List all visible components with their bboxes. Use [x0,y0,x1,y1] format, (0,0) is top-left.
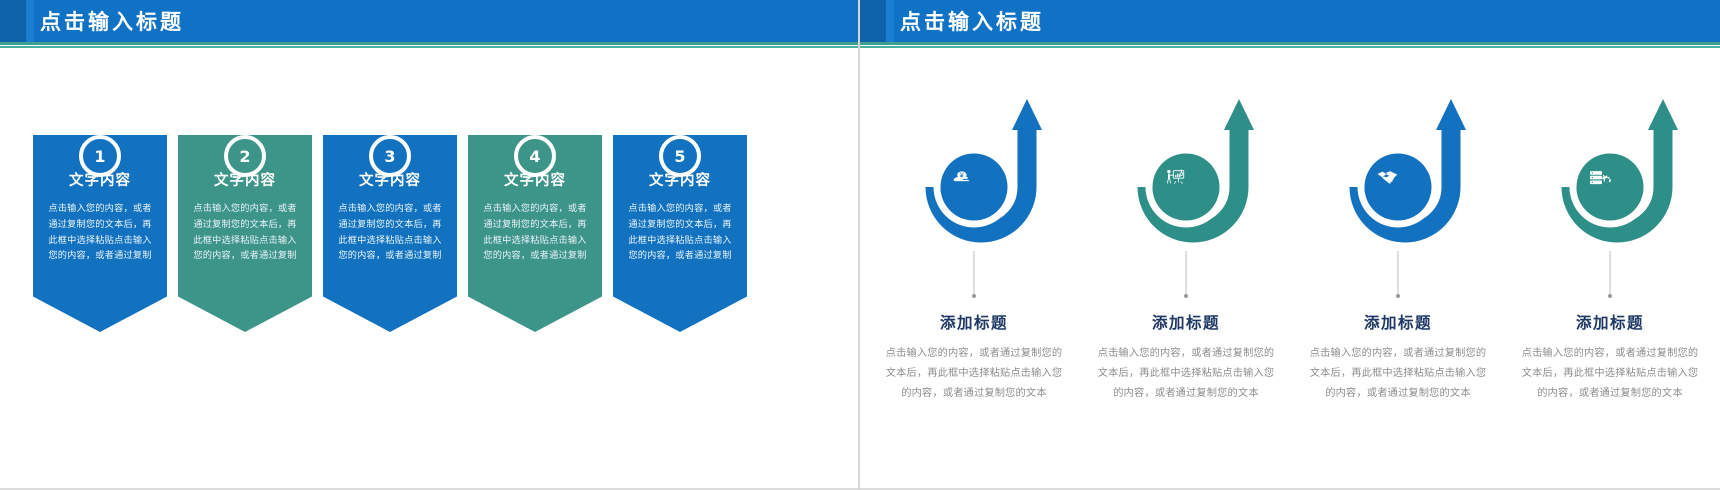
slide-left-header: 点击输入标题 [0,0,858,42]
slide-left: 点击输入标题 文字内容点击输入您的内容，或者通过复制您的文本后，再此框中选择粘贴… [0,0,858,490]
banner-body-text: 点击输入您的内容，或者通过复制您的文本后，再此框中选择粘贴点击输入您的内容，或者… [479,201,591,264]
banner-item-5[interactable]: 文字内容点击输入您的内容，或者通过复制您的文本后，再此框中选择粘贴点击输入您的内… [613,135,747,332]
slide-right-title: 点击输入标题 [900,0,1044,42]
arrow-circle-svg [1298,83,1498,258]
banner-item-1[interactable]: 文字内容点击输入您的内容，或者通过复制您的文本后，再此框中选择粘贴点击输入您的内… [33,135,167,332]
banner-item-3[interactable]: 文字内容点击输入您的内容，或者通过复制您的文本后，再此框中选择粘贴点击输入您的内… [323,135,457,332]
number-label: 2 [239,147,250,166]
arrow-item-2[interactable]: 添加标题点击输入您的内容，或者通过复制您的文本后，再此框中选择粘贴点击输入您的内… [1086,83,1286,404]
connector-dot [1608,294,1612,298]
arrow-item-body: 点击输入您的内容，或者通过复制您的文本后，再此框中选择粘贴点击输入您的内容，或者… [1086,344,1286,404]
slide-deck: 点击输入标题 文字内容点击输入您的内容，或者通过复制您的文本后，再此框中选择粘贴… [0,0,1720,490]
header-accent-bar [860,0,886,42]
number-circle-2[interactable]: 2 [224,135,266,177]
number-label: 4 [529,147,540,166]
arrow-item-group: 添加标题点击输入您的内容，或者通过复制您的文本后，再此框中选择粘贴点击输入您的内… [860,48,1720,478]
slide-right-header: 点击输入标题 [860,0,1720,42]
connector-line [974,251,975,296]
connector-dot [1396,294,1400,298]
banner-body-text: 点击输入您的内容，或者通过复制您的文本后，再此框中选择粘贴点击输入您的内容，或者… [334,201,446,264]
banner-group: 文字内容点击输入您的内容，或者通过复制您的文本后，再此框中选择粘贴点击输入您的内… [0,48,858,468]
arrow-graphic [874,83,1074,253]
arrow-circle-svg [1510,83,1710,258]
arrow-item-3[interactable]: 添加标题点击输入您的内容，或者通过复制您的文本后，再此框中选择粘贴点击输入您的内… [1298,83,1498,404]
connector-line [1186,251,1187,296]
arrow-item-title: 添加标题 [1086,311,1286,333]
connector-line [1398,251,1399,296]
header-accent-bar-secondary [886,0,894,42]
arrow-item-body: 点击输入您的内容，或者通过复制您的文本后，再此框中选择粘贴点击输入您的内容，或者… [874,344,1074,404]
number-circle-3[interactable]: 3 [369,135,411,177]
arrow-item-4[interactable]: 添加标题点击输入您的内容，或者通过复制您的文本后，再此框中选择粘贴点击输入您的内… [1510,83,1710,404]
connector-line [1610,251,1611,296]
arrow-circle-svg [1086,83,1286,258]
number-circle-5[interactable]: 5 [659,135,701,177]
number-circle-1[interactable]: 1 [79,135,121,177]
banner-body-text: 点击输入您的内容，或者通过复制您的文本后，再此框中选择粘贴点击输入您的内容，或者… [189,201,301,264]
number-label: 3 [384,147,395,166]
banner-item-2[interactable]: 文字内容点击输入您的内容，或者通过复制您的文本后，再此框中选择粘贴点击输入您的内… [178,135,312,332]
number-label: 1 [94,147,105,166]
arrow-item-title: 添加标题 [1510,311,1710,333]
number-circle-4[interactable]: 4 [514,135,556,177]
slide-left-title: 点击输入标题 [40,0,184,42]
banner-item-4[interactable]: 文字内容点击输入您的内容，或者通过复制您的文本后，再此框中选择粘贴点击输入您的内… [468,135,602,332]
arrow-graphic [1086,83,1286,253]
arrow-item-body: 点击输入您的内容，或者通过复制您的文本后，再此框中选择粘贴点击输入您的内容，或者… [1510,344,1710,404]
banner-body-text: 点击输入您的内容，或者通过复制您的文本后，再此框中选择粘贴点击输入您的内容，或者… [624,201,736,264]
header-accent-bar [0,0,26,42]
arrow-graphic [1298,83,1498,253]
arrow-graphic [1510,83,1710,253]
header-accent-bar-secondary [26,0,34,42]
slide-right: 点击输入标题 添加标题点击输入您的内容，或者通过复制您的文本后，再此框中选择粘贴… [860,0,1720,490]
arrow-item-title: 添加标题 [874,311,1074,333]
arrow-circle-svg [874,83,1074,258]
banner-body-text: 点击输入您的内容，或者通过复制您的文本后，再此框中选择粘贴点击输入您的内容，或者… [44,201,156,264]
arrow-item-1[interactable]: 添加标题点击输入您的内容，或者通过复制您的文本后，再此框中选择粘贴点击输入您的内… [874,83,1074,404]
connector-dot [972,294,976,298]
connector-dot [1184,294,1188,298]
arrow-item-title: 添加标题 [1298,311,1498,333]
arrow-item-body: 点击输入您的内容，或者通过复制您的文本后，再此框中选择粘贴点击输入您的内容，或者… [1298,344,1498,404]
number-label: 5 [674,147,685,166]
